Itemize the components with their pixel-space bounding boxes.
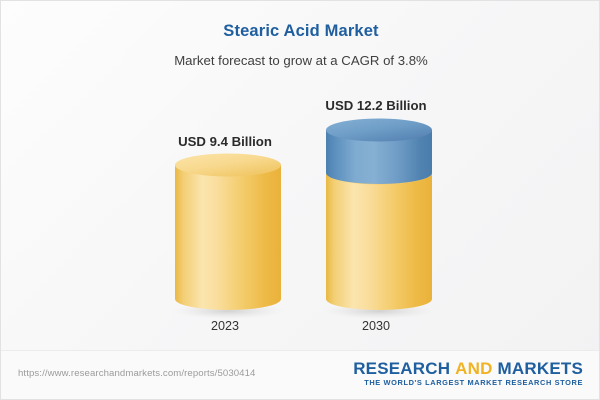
bar-value-label-2030: USD 12.2 Billion (266, 98, 486, 113)
logo-word-markets: MARKETS (498, 359, 583, 378)
plot-area: USD 9.4 Billion (1, 1, 600, 351)
cylinder-2023 (167, 151, 285, 319)
logo-word-and: AND (455, 359, 492, 378)
research-and-markets-logo[interactable]: RESEARCH AND MARKETS THE WORLD'S LARGEST… (353, 359, 583, 388)
bar-category-label-2030: 2030 (266, 319, 486, 333)
logo-wordmark: RESEARCH AND MARKETS (353, 359, 583, 378)
footer: https://www.researchandmarkets.com/repor… (1, 350, 599, 399)
cylinder-2030 (318, 116, 436, 319)
bar-value-label-2023: USD 9.4 Billion (115, 134, 335, 149)
chart-card: Stearic Acid Market Market forecast to g… (0, 0, 600, 400)
report-url[interactable]: https://www.researchandmarkets.com/repor… (18, 368, 256, 379)
logo-word-research: RESEARCH (353, 359, 450, 378)
logo-tagline: THE WORLD'S LARGEST MARKET RESEARCH STOR… (353, 378, 583, 388)
